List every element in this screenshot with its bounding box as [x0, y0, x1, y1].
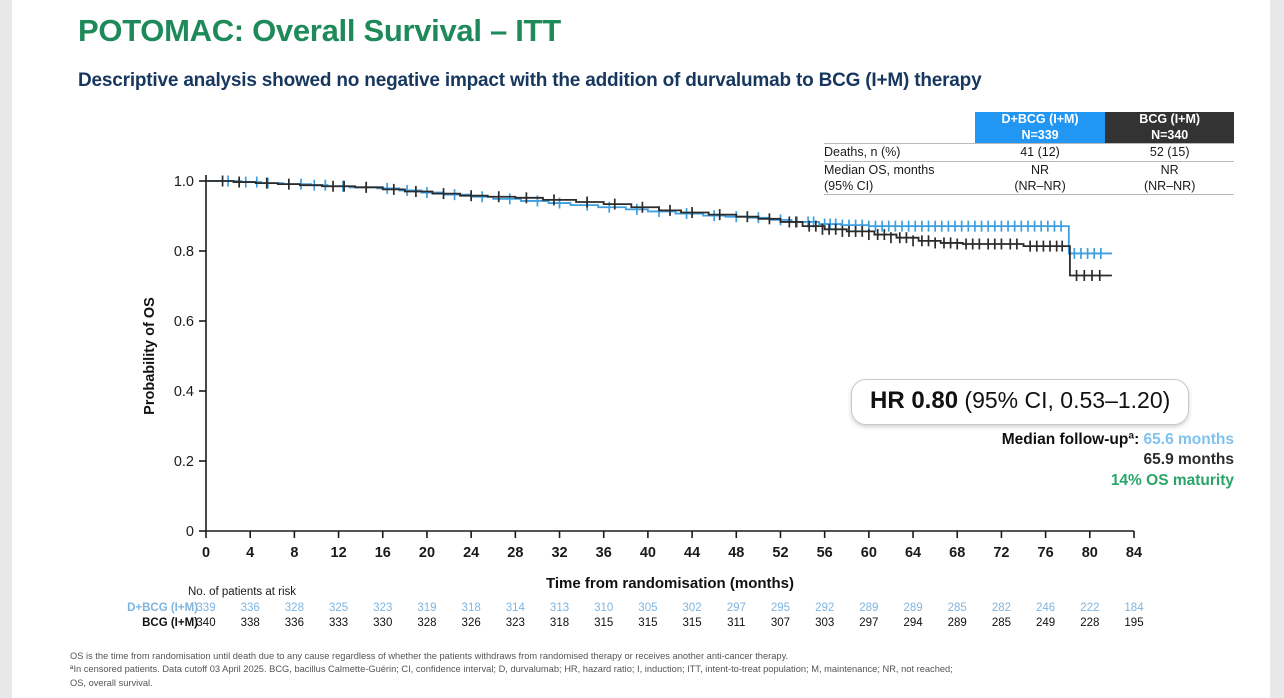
risk-value: 315: [632, 617, 664, 629]
risk-value: 307: [764, 617, 796, 629]
summary-header-bcg-n: N=340: [1151, 128, 1188, 142]
risk-value: 249: [1030, 617, 1062, 629]
risk-value: 339: [190, 602, 222, 614]
risk-value: 294: [897, 617, 929, 629]
page-subtitle: Descriptive analysis showed no negative …: [78, 70, 981, 92]
risk-value: 318: [544, 617, 576, 629]
summary-header-durvalumab-n: N=339: [1021, 128, 1058, 142]
followup-stats: Median follow-upª: 65.6 months 65.9 mont…: [760, 430, 1234, 491]
risk-value: 315: [676, 617, 708, 629]
risk-row-label: D+BCG (I+M): [127, 602, 198, 614]
risk-value: 318: [455, 602, 487, 614]
risk-value: 326: [455, 617, 487, 629]
hazard-ratio-callout: HR 0.80 (95% CI, 0.53–1.20): [851, 379, 1189, 425]
risk-value: 330: [367, 617, 399, 629]
risk-value: 328: [411, 617, 443, 629]
risk-value: 303: [809, 617, 841, 629]
y-axis-title: Probability of OS: [142, 297, 158, 415]
followup-label: Median follow-upª:: [1002, 431, 1139, 448]
risk-row-durvalumab: D+BCG (I+M)33933632832532331931831431331…: [0, 602, 1284, 617]
footnote-line-2: ªIn censored patients. Data cutoff 03 Ap…: [70, 663, 1250, 676]
y-tick-label: 1.0: [174, 174, 194, 190]
x-tick-label: 12: [331, 545, 347, 561]
hazard-ratio-value: HR 0.80: [870, 387, 958, 414]
risk-value: 292: [809, 602, 841, 614]
x-tick-label: 56: [817, 545, 833, 561]
footnote-line-3: OS, overall survival.: [70, 677, 1250, 690]
followup-value-durvalumab: 65.6 months: [1144, 431, 1234, 448]
followup-value-bcg: 65.9 months: [760, 450, 1234, 470]
y-tick-label: 0.6: [174, 314, 194, 330]
x-tick-label: 16: [375, 545, 391, 561]
risk-value: 228: [1074, 617, 1106, 629]
risk-value: 336: [278, 617, 310, 629]
x-tick-label: 68: [949, 545, 965, 561]
x-tick-label: 60: [861, 545, 877, 561]
hazard-ratio-ci: (95% CI, 0.53–1.20): [958, 387, 1170, 413]
y-tick-label: 0.2: [174, 454, 194, 470]
page-title: POTOMAC: Overall Survival – ITT: [78, 13, 561, 49]
risk-value: 295: [764, 602, 796, 614]
x-tick-label: 0: [202, 545, 210, 561]
risk-value: 195: [1118, 617, 1150, 629]
risk-value: 328: [278, 602, 310, 614]
x-tick-label: 84: [1126, 545, 1142, 561]
summary-header-durvalumab: D+BCG (I+M) N=339: [975, 112, 1106, 144]
followup-line-durvalumab: Median follow-upª: 65.6 months: [760, 430, 1234, 450]
risk-value: 323: [499, 617, 531, 629]
x-tick-label: 40: [640, 545, 656, 561]
risk-value: 289: [853, 602, 885, 614]
y-tick-label: 0.4: [174, 384, 194, 400]
risk-value: 315: [588, 617, 620, 629]
footnote-line-1: OS is the time from randomisation until …: [70, 650, 1250, 663]
risk-value: 282: [985, 602, 1017, 614]
y-tick-label: 0: [186, 524, 194, 540]
kaplan-meier-chart: 00.20.40.60.81.0048121620242832364044485…: [0, 150, 1284, 600]
x-tick-label: 76: [1038, 545, 1054, 561]
risk-value: 305: [632, 602, 664, 614]
x-tick-label: 20: [419, 545, 435, 561]
summary-header-bcg: BCG (I+M) N=340: [1105, 112, 1234, 144]
y-tick-label: 0.8: [174, 244, 194, 260]
x-tick-label: 44: [684, 545, 700, 561]
risk-value: 246: [1030, 602, 1062, 614]
risk-value: 289: [941, 617, 973, 629]
summary-header-durvalumab-label: D+BCG (I+M): [1002, 112, 1079, 126]
risk-value: 325: [323, 602, 355, 614]
risk-value: 285: [985, 617, 1017, 629]
summary-header-row: D+BCG (I+M) N=339 BCG (I+M) N=340: [824, 112, 1234, 144]
risk-value: 333: [323, 617, 355, 629]
risk-row-bcg: BCG (I+M)3403383363333303283263233183153…: [0, 617, 1284, 632]
os-maturity: 14% OS maturity: [760, 471, 1234, 491]
x-axis-title: Time from randomisation (months): [546, 575, 794, 592]
risk-value: 310: [588, 602, 620, 614]
risk-value: 222: [1074, 602, 1106, 614]
risk-value: 302: [676, 602, 708, 614]
summary-header-blank: [824, 112, 975, 144]
x-tick-label: 64: [905, 545, 921, 561]
x-tick-label: 8: [290, 545, 298, 561]
risk-value: 289: [897, 602, 929, 614]
x-tick-label: 36: [596, 545, 612, 561]
x-tick-label: 80: [1082, 545, 1098, 561]
x-tick-label: 52: [772, 545, 788, 561]
risk-value: 314: [499, 602, 531, 614]
risk-value: 313: [544, 602, 576, 614]
x-tick-label: 32: [551, 545, 567, 561]
risk-value: 338: [234, 617, 266, 629]
risk-value: 319: [411, 602, 443, 614]
risk-value: 285: [941, 602, 973, 614]
footnotes: OS is the time from randomisation until …: [70, 650, 1250, 690]
risk-value: 297: [853, 617, 885, 629]
risk-value: 311: [720, 617, 752, 629]
x-tick-label: 28: [507, 545, 523, 561]
km-curve-durvalumab: [206, 181, 1112, 253]
x-tick-label: 24: [463, 545, 479, 561]
km-curve-bcg: [206, 181, 1112, 276]
risk-value: 336: [234, 602, 266, 614]
km-plot-svg: 00.20.40.60.81.0048121620242832364044485…: [0, 150, 1284, 600]
summary-header-bcg-label: BCG (I+M): [1139, 112, 1200, 126]
x-tick-label: 4: [246, 545, 254, 561]
risk-value: 340: [190, 617, 222, 629]
x-tick-label: 72: [993, 545, 1009, 561]
patients-at-risk-title: No. of patients at risk: [188, 586, 296, 598]
x-tick-label: 48: [728, 545, 744, 561]
risk-value: 184: [1118, 602, 1150, 614]
risk-value: 297: [720, 602, 752, 614]
risk-value: 323: [367, 602, 399, 614]
